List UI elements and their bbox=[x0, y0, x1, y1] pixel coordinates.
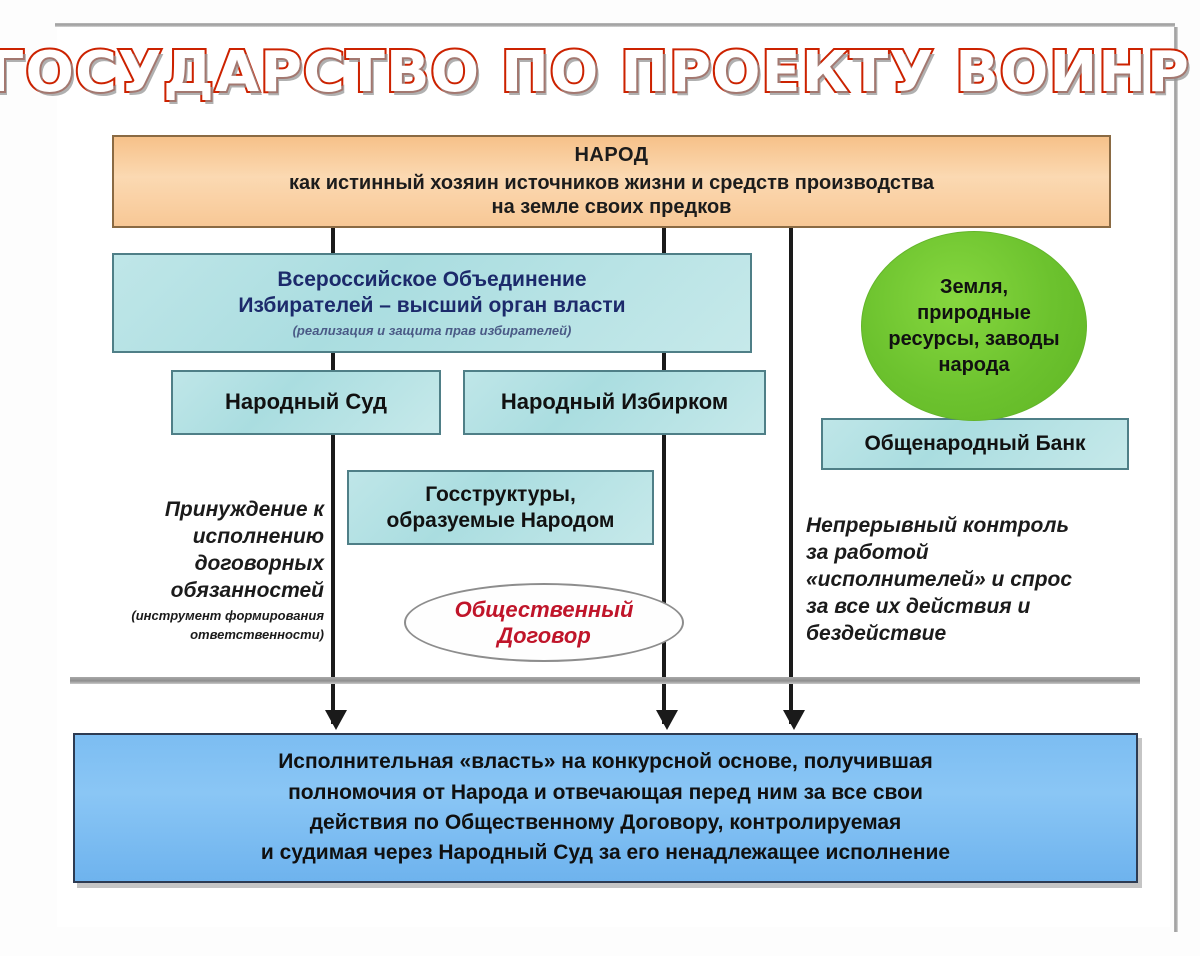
note-left-line-1: Принуждение к bbox=[62, 497, 324, 524]
note-right-line-3: «исполнителей» и спрос bbox=[806, 567, 1151, 594]
voi-line-2: Избирателей – высший орган власти bbox=[238, 293, 625, 319]
note-left-small-1: (инструмент формирования bbox=[62, 608, 324, 624]
page-title: ГОСУДАРСТВО ПО ПРОЕКТУ ВОИНР СССР bbox=[0, 40, 1200, 105]
note-right-line-5: бездействие bbox=[806, 621, 1151, 648]
note-left-small-2: ответственности) bbox=[62, 627, 324, 643]
horizontal-separator-rule bbox=[70, 677, 1140, 684]
executive-power-box: Исполнительная «власть» на конкурсной ос… bbox=[73, 733, 1138, 883]
executive-line-3: действия по Общественному Договору, конт… bbox=[310, 808, 902, 838]
zemlya-line-2: природные bbox=[888, 300, 1059, 326]
note-right-line-4: за все их действия и bbox=[806, 594, 1151, 621]
obshchenarodny-bank-label: Общенародный Банк bbox=[864, 431, 1085, 457]
frame-right-rule bbox=[1174, 27, 1178, 932]
obshchenarodny-bank-box: Общенародный Банк bbox=[821, 418, 1129, 470]
executive-line-2: полномочия от Народа и отвечающая перед … bbox=[288, 778, 923, 808]
zemlya-line-3: ресурсы, заводы bbox=[888, 326, 1059, 352]
voi-subtitle: (реализация и защита прав избирателей) bbox=[293, 323, 572, 339]
zemlya-line-1: Земля, bbox=[888, 274, 1059, 300]
executive-line-4: и судимая через Народный Суд за его нена… bbox=[261, 838, 950, 868]
narod-heading: НАРОД bbox=[574, 143, 648, 167]
narod-line-1: как истинный хозяин источников жизни и с… bbox=[289, 171, 934, 195]
diagram-canvas: ГОСУДАРСТВО ПО ПРОЕКТУ ВОИНР СССР НАРОД … bbox=[0, 0, 1200, 956]
note-right-line-1: Непрерывный контроль bbox=[806, 513, 1151, 540]
executive-line-1: Исполнительная «власть» на конкурсной ос… bbox=[278, 747, 933, 777]
note-left-coercion: Принуждение к исполнению договорных обяз… bbox=[62, 497, 324, 643]
narod-box: НАРОД как истинный хозяин источников жиз… bbox=[112, 135, 1111, 228]
narodny-izbirkom-label: Народный Избирком bbox=[501, 389, 728, 416]
zemlya-line-4: народа bbox=[888, 352, 1059, 378]
narod-line-2: на земле своих предков bbox=[492, 195, 732, 219]
note-right-control: Непрерывный контроль за работой «исполни… bbox=[806, 513, 1151, 647]
connector-line-right bbox=[789, 228, 793, 724]
narodny-sud-box: Народный Суд bbox=[171, 370, 441, 435]
gosstruktury-box: Госструктуры, образуемые Народом bbox=[347, 470, 654, 545]
note-left-line-3: договорных bbox=[62, 551, 324, 578]
zemlya-resources-circle: Земля, природные ресурсы, заводы народа bbox=[861, 231, 1087, 421]
note-left-line-4: обязанностей bbox=[62, 578, 324, 605]
arrow-narod-to-executive-middle bbox=[656, 710, 678, 730]
voi-box: Всероссийское Объединение Избирателей – … bbox=[112, 253, 752, 353]
gosstruktury-line-2: образуемые Народом bbox=[387, 508, 615, 534]
arrow-narod-to-executive-right bbox=[783, 710, 805, 730]
narodny-sud-label: Народный Суд bbox=[225, 389, 387, 416]
oval-line-1: Общественный bbox=[455, 597, 634, 623]
voi-line-1: Всероссийское Объединение bbox=[277, 267, 586, 293]
oval-line-2: Договор bbox=[497, 623, 591, 649]
gosstruktury-line-1: Госструктуры, bbox=[425, 482, 576, 508]
note-left-line-2: исполнению bbox=[62, 524, 324, 551]
note-right-line-2: за работой bbox=[806, 540, 1151, 567]
narodny-izbirkom-box: Народный Избирком bbox=[463, 370, 766, 435]
obshchestvenny-dogovor-oval: Общественный Договор bbox=[404, 583, 684, 662]
arrow-narod-to-executive-left bbox=[325, 710, 347, 730]
frame-top-rule bbox=[55, 23, 1175, 27]
